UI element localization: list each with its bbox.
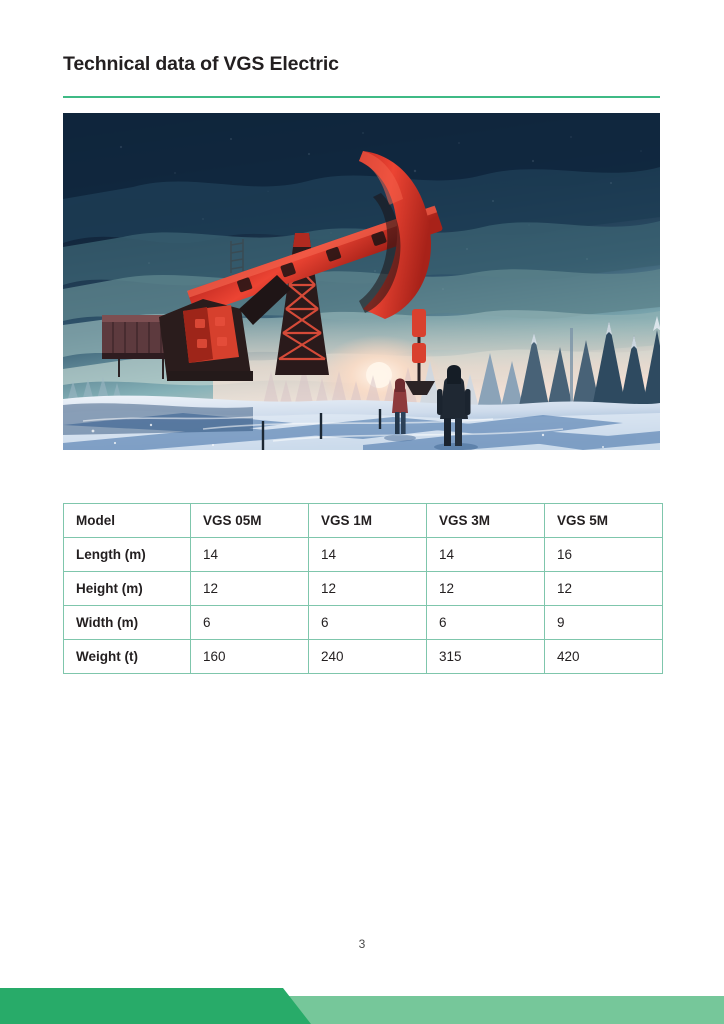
technical-data-table: Model VGS 05M VGS 1M VGS 3M VGS 5M Lengt… — [63, 503, 663, 674]
table-row: Length (m) 14 14 14 16 — [64, 538, 663, 572]
cell-weight-vgs-5m: 420 — [545, 640, 663, 674]
cell-length-vgs-1m: 14 — [309, 538, 427, 572]
table-row: Weight (t) 160 240 315 420 — [64, 640, 663, 674]
page-number: 3 — [0, 937, 724, 951]
cell-width-vgs-5m: 9 — [545, 606, 663, 640]
cell-width-vgs-3m: 6 — [427, 606, 545, 640]
table-header-row: Model VGS 05M VGS 1M VGS 3M VGS 5M — [64, 504, 663, 538]
column-header-vgs-1m: VGS 1M — [309, 504, 427, 538]
cell-weight-vgs-3m: 315 — [427, 640, 545, 674]
footer-dark-green-shape — [0, 988, 311, 1024]
illustration-svg — [63, 113, 660, 450]
cell-height-vgs-1m: 12 — [309, 572, 427, 606]
title-underline-rule — [63, 96, 660, 98]
row-label-height: Height (m) — [64, 572, 191, 606]
footer-decoration-svg — [0, 970, 724, 1024]
column-header-vgs-05m: VGS 05M — [191, 504, 309, 538]
column-header-model: Model — [64, 504, 191, 538]
footer-decoration — [0, 970, 724, 1024]
cell-weight-vgs-1m: 240 — [309, 640, 427, 674]
cell-length-vgs-05m: 14 — [191, 538, 309, 572]
cell-length-vgs-3m: 14 — [427, 538, 545, 572]
column-header-vgs-5m: VGS 5M — [545, 504, 663, 538]
cell-width-vgs-05m: 6 — [191, 606, 309, 640]
cell-height-vgs-3m: 12 — [427, 572, 545, 606]
cell-length-vgs-5m: 16 — [545, 538, 663, 572]
cell-height-vgs-5m: 12 — [545, 572, 663, 606]
row-label-length: Length (m) — [64, 538, 191, 572]
row-label-width: Width (m) — [64, 606, 191, 640]
table-row: Height (m) 12 12 12 12 — [64, 572, 663, 606]
table-row: Width (m) 6 6 6 9 — [64, 606, 663, 640]
cell-height-vgs-05m: 12 — [191, 572, 309, 606]
page-title: Technical data of VGS Electric — [63, 53, 339, 76]
column-header-vgs-3m: VGS 3M — [427, 504, 545, 538]
row-label-weight: Weight (t) — [64, 640, 191, 674]
cell-width-vgs-1m: 6 — [309, 606, 427, 640]
illustration-pumpjack-winter — [63, 113, 660, 450]
cell-weight-vgs-05m: 160 — [191, 640, 309, 674]
